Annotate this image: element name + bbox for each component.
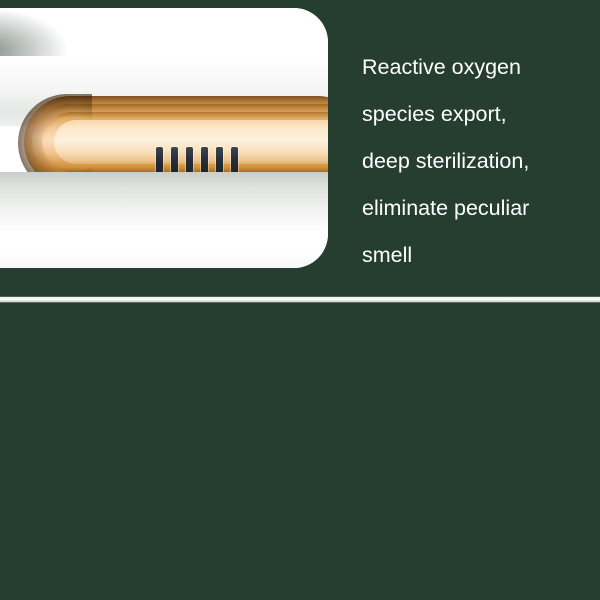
- panel-bottom: Long press to open the fresh-keeping and…: [0, 305, 600, 600]
- white-housing-lower: [0, 172, 328, 268]
- panel-top: Reactive oxygen species export, deep ste…: [0, 0, 600, 295]
- copy-line: deep sterilization,: [362, 138, 592, 185]
- copy-line: Reactive oxygen: [362, 44, 592, 91]
- housing-bottom-edge: [0, 252, 328, 268]
- housing-corner-shadow: [0, 8, 80, 56]
- feature-copy-top: Reactive oxygen species export, deep ste…: [362, 44, 592, 279]
- product-image-top: [0, 8, 328, 268]
- divider-line-bottom: [0, 302, 600, 303]
- copy-line: smell: [362, 232, 592, 279]
- copy-line: species export,: [362, 91, 592, 138]
- copy-line: eliminate peculiar: [362, 185, 592, 232]
